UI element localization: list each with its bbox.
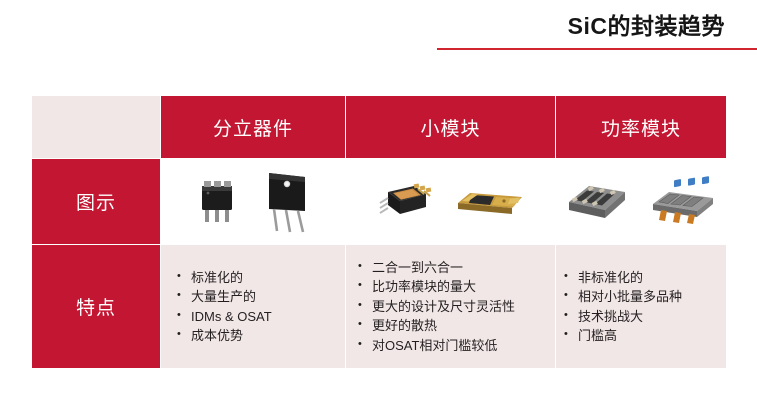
list-item: 二合一到六合一 bbox=[358, 258, 555, 278]
column-header-power-module: 功率模块 bbox=[556, 96, 727, 159]
to-252-discrete-package-icon bbox=[192, 172, 242, 232]
feature-list-discrete: 标准化的 大量生产的 IDMs & OSAT 成本优势 bbox=[161, 268, 345, 346]
list-item: IDMs & OSAT bbox=[177, 307, 345, 327]
features-cell-discrete: 标准化的 大量生产的 IDMs & OSAT 成本优势 bbox=[161, 245, 346, 369]
gold-plated-small-module-icon bbox=[452, 177, 528, 227]
table-corner-cell bbox=[32, 96, 161, 159]
list-item: 更好的散热 bbox=[358, 316, 555, 336]
sic-packaging-comparison-table: 分立器件 小模块 功率模块 图示 bbox=[31, 95, 727, 369]
terminal-power-module-icon bbox=[647, 174, 719, 230]
discrete-artwork-group bbox=[161, 159, 345, 244]
features-cell-small-module: 二合一到六合一 比功率模块的量大 更大的设计及尺寸灵活性 更好的散热 对OSAT… bbox=[346, 245, 556, 369]
title-underline-rule bbox=[437, 48, 757, 50]
small-module-artwork-group bbox=[346, 159, 555, 244]
to-247-discrete-package-icon bbox=[260, 167, 314, 237]
list-item: 标准化的 bbox=[177, 268, 345, 288]
row-header-features: 特点 bbox=[32, 245, 161, 369]
power-module-artwork-group bbox=[556, 159, 726, 244]
illustration-cell-power-module bbox=[556, 159, 727, 245]
illustration-cell-small-module bbox=[346, 159, 556, 245]
row-header-illustration: 图示 bbox=[32, 159, 161, 245]
feature-list-power-module: 非标准化的 相对小批量多品种 技术挑战大 门槛高 bbox=[556, 268, 726, 346]
list-item: 相对小批量多品种 bbox=[564, 287, 726, 307]
features-cell-power-module: 非标准化的 相对小批量多品种 技术挑战大 门槛高 bbox=[556, 245, 727, 369]
column-header-discrete: 分立器件 bbox=[161, 96, 346, 159]
feature-list-small-module: 二合一到六合一 比功率模块的量大 更大的设计及尺寸灵活性 更好的散热 对OSAT… bbox=[346, 258, 555, 356]
page-title: SiC的封装趋势 bbox=[568, 10, 725, 42]
table-row-illustration: 图示 bbox=[32, 159, 727, 245]
three-section-power-module-icon bbox=[563, 174, 629, 230]
column-header-small-module: 小模块 bbox=[346, 96, 556, 159]
list-item: 大量生产的 bbox=[177, 287, 345, 307]
list-item: 门槛高 bbox=[564, 326, 726, 346]
slide-header: SiC的封装趋势 bbox=[437, 8, 757, 52]
list-item: 成本优势 bbox=[177, 326, 345, 346]
table-row-features: 特点 标准化的 大量生产的 IDMs & OSAT 成本优势 二合一到六合一 比… bbox=[32, 245, 727, 369]
copper-baseplate-small-module-icon bbox=[374, 172, 434, 232]
illustration-cell-discrete bbox=[161, 159, 346, 245]
list-item: 技术挑战大 bbox=[564, 307, 726, 327]
list-item: 比功率模块的量大 bbox=[358, 277, 555, 297]
list-item: 更大的设计及尺寸灵活性 bbox=[358, 297, 555, 317]
list-item: 非标准化的 bbox=[564, 268, 726, 288]
table-header-row: 分立器件 小模块 功率模块 bbox=[32, 96, 727, 159]
list-item: 对OSAT相对门槛较低 bbox=[358, 336, 555, 356]
